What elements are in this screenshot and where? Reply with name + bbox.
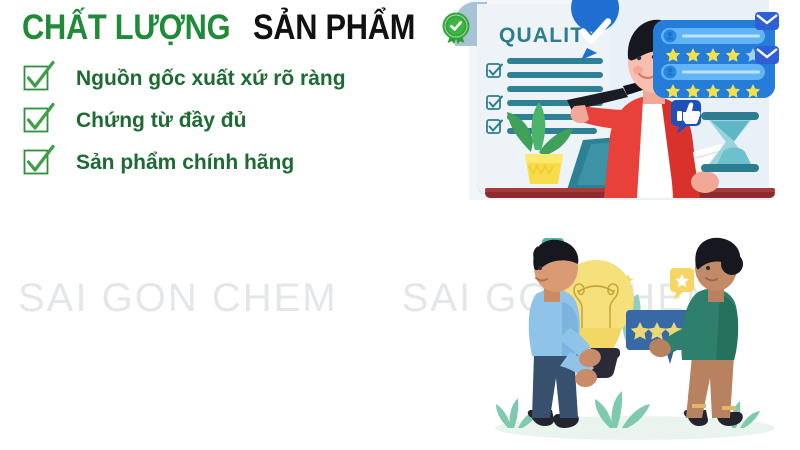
list-item: Sản phẩm chính hãng [22,142,346,184]
product-heading-black: SẢN PHẨM [253,8,415,48]
list-item-label: Nguồn gốc xuất xứ rõ ràng [76,67,346,91]
product-feature-list: Nguồn gốc xuất xứ rõ ràng Chứng từ đầy đ… [22,58,346,184]
checkbox-checked-icon [22,106,52,136]
list-item: Chứng từ đầy đủ [22,100,346,142]
badge-bubble-icon [670,268,694,300]
list-item: Nguồn gốc xuất xứ rõ ràng [22,58,346,100]
quality-seal-icon [441,12,471,44]
service-handshake-illustration: ? [470,232,800,450]
envelope-icon [755,46,779,64]
promo-banner: SAI GON CHEM SAI GON CHEM CHẤT LƯỢNG SẢN… [0,0,800,450]
product-heading: CHẤT LƯỢNG SẢN PHẨM [22,8,471,48]
quality-checklist-illustration: QUALITY [455,0,800,222]
section-product-quality: CHẤT LƯỢNG SẢN PHẨM [0,0,460,222]
list-item-label: Sản phẩm chính hãng [76,151,294,175]
list-item-label: Chứng từ đầy đủ [76,109,246,133]
envelope-icon [755,12,779,30]
checkbox-checked-icon [22,148,52,178]
checkbox-checked-icon [22,64,52,94]
product-heading-green: CHẤT LƯỢNG [22,8,230,48]
section-service-quality: CHẤT LƯỢNG DỊCH VỤ [0,232,470,450]
